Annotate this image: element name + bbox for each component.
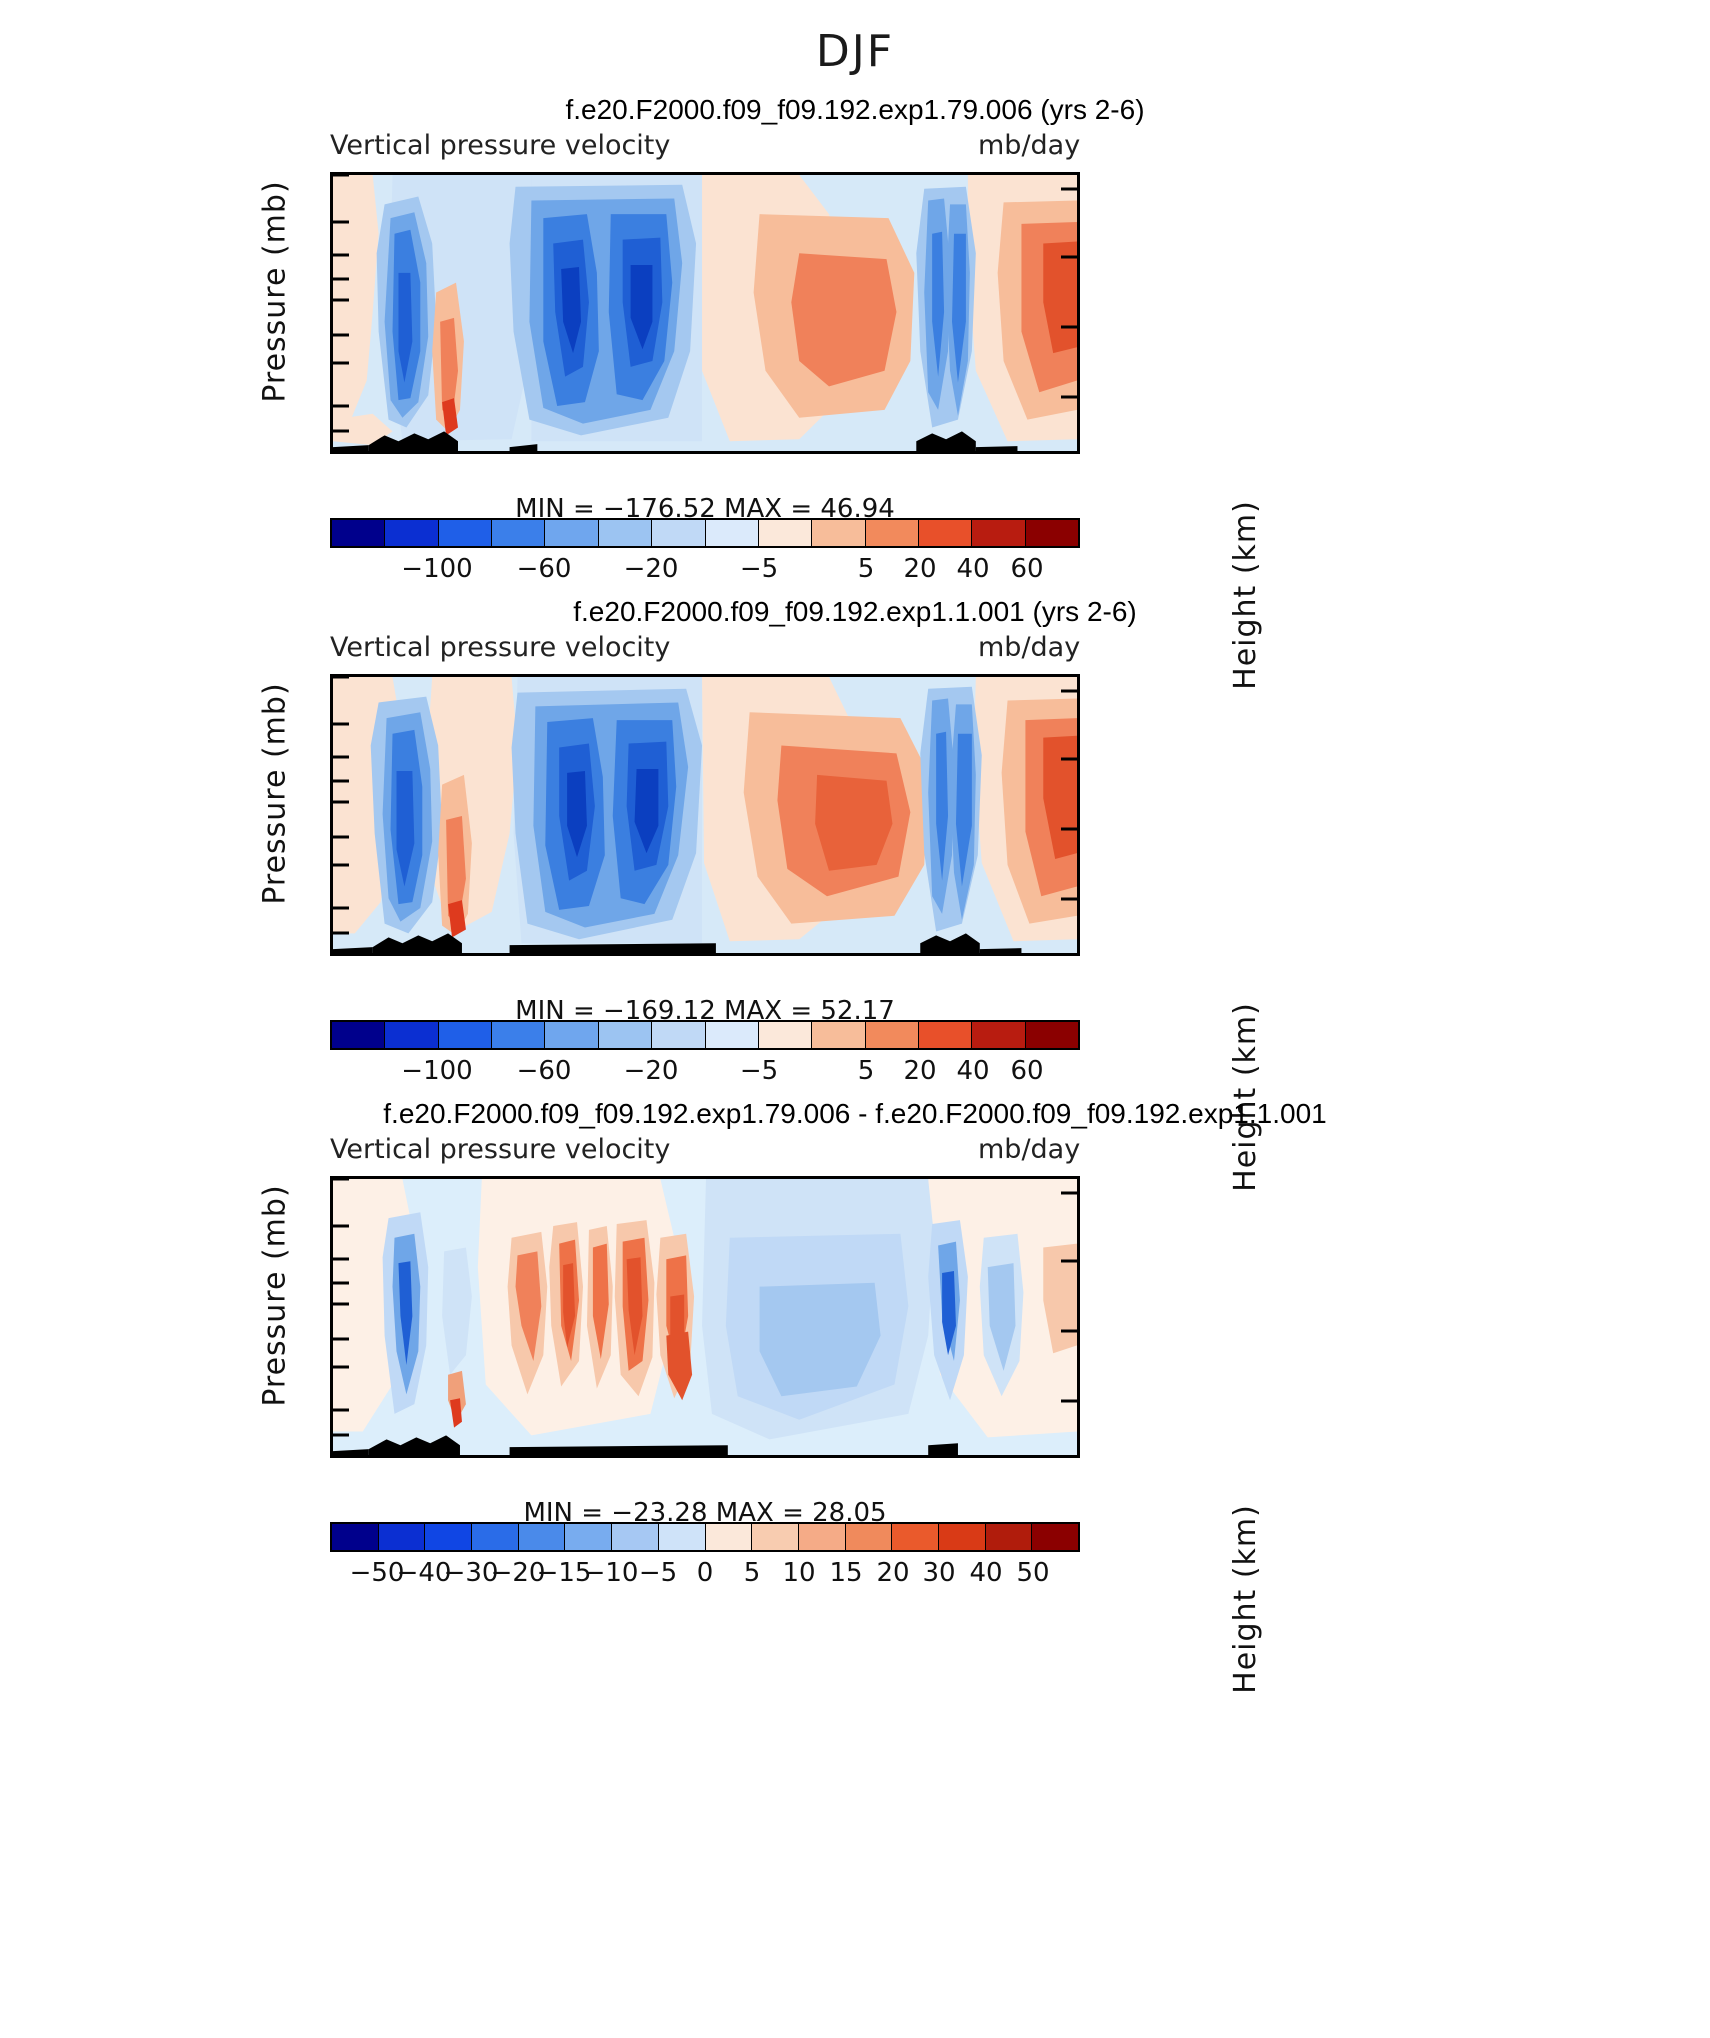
panel-3-cbar-tick-10: 15 — [829, 1558, 862, 1588]
panel-3-ytick-500: 500 — [330, 1352, 333, 1383]
panel-1-cbar-tick-0: −100 — [401, 554, 472, 584]
panel-2-y2tick-8: 8 — [1077, 814, 1080, 845]
panel-3-ytick-150: 150 — [330, 1211, 333, 1242]
panel-3-ytick-1000: 1000 — [330, 1444, 333, 1459]
panel-2-cbar-tick-7: 60 — [1010, 1056, 1043, 1086]
panel-3: f.e20.F2000.f09_f09.192.exp1.79.006 - f.… — [0, 1094, 1710, 1498]
panel-2-colorbar-wrap: −100 −60 −20 −5 5 20 40 60 — [330, 1020, 1080, 1092]
panel-2-cbar-tick-2: −20 — [624, 1056, 679, 1086]
panel-1-cbar-tick-1: −60 — [517, 554, 572, 584]
panel-2-y2-holder: Height (km) — [1258, 956, 1540, 986]
panel-3-ytick-300: 300 — [330, 1289, 333, 1320]
panel-1-cbar-tick-5: 20 — [903, 554, 936, 584]
panel-3-y2tick-8: 8 — [1077, 1316, 1080, 1347]
panel-1-ytick-150: 150 — [330, 207, 333, 238]
panel-2-colorbar — [330, 1020, 1080, 1050]
panel-3-cbar-tick-11: 20 — [876, 1558, 909, 1588]
panel-1-frame: 100 150 200 250 300 400 500 700 850 1000… — [330, 172, 1080, 454]
panel-3-colorbar-wrap: −50 −40 −30 −20 −15 −10 −5 0 5 10 15 20 … — [330, 1522, 1080, 1594]
panel-1-cbar-tick-3: −5 — [740, 554, 778, 584]
panel-2-y2tick-16: 16 — [1077, 676, 1080, 707]
panel-1-plot-area: Pressure (mb) Height (km) — [0, 164, 1710, 494]
panel-3-cbar-tick-12: 30 — [922, 1558, 955, 1588]
panel-2-colorbar-labels: −100 −60 −20 −5 5 20 40 60 — [330, 1056, 1080, 1092]
panel-1-cbar-tick-2: −20 — [624, 554, 679, 584]
panel-2-title: f.e20.F2000.f09_f09.192.exp1.1.001 (yrs … — [0, 592, 1710, 632]
panel-1-colorbar — [330, 518, 1080, 548]
panel-2-y2tick-4: 4 — [1077, 884, 1080, 915]
panel-2-ytick-500: 500 — [330, 850, 333, 881]
panel-3-y2tick-4: 4 — [1077, 1386, 1080, 1417]
panel-3-y2-holder: Height (km) — [1258, 1458, 1540, 1488]
panel-2-cbar-tick-6: 40 — [956, 1056, 989, 1086]
season-title: DJF — [0, 26, 1710, 77]
panel-3-y2tick-16: 16 — [1077, 1178, 1080, 1209]
panel-2: f.e20.F2000.f09_f09.192.exp1.1.001 (yrs … — [0, 592, 1710, 996]
panel-2-y-axis-label: Pressure (mb) — [258, 629, 293, 959]
panel-1-y2tick-16: 16 — [1077, 174, 1080, 205]
panel-1-colorbar-wrap: −100 −60 −20 −5 5 20 40 60 — [330, 518, 1080, 590]
panel-3-plot-area: Pressure (mb) Height (km) — [0, 1168, 1710, 1498]
panel-1-y2tick-12: 12 — [1077, 242, 1080, 273]
panel-2-variable-label: Vertical pressure velocity — [330, 632, 670, 663]
panel-1-cbar-tick-7: 60 — [1010, 554, 1043, 584]
panel-2-cbar-tick-3: −5 — [740, 1056, 778, 1086]
panel-1-units-label: mb/day — [978, 130, 1080, 161]
panel-1-y2-holder: Height (km) — [1258, 454, 1540, 484]
panel-1-cbar-tick-6: 40 — [956, 554, 989, 584]
panel-3-cbar-tick-13: 40 — [969, 1558, 1002, 1588]
panel-3-y-axis-label: Pressure (mb) — [258, 1131, 293, 1461]
panel-3-contour-field — [333, 1179, 1077, 1455]
panel-3-subtitle-row: Vertical pressure velocity mb/day — [0, 1134, 1710, 1168]
panel-1-ytick-1000: 1000 — [330, 440, 333, 455]
panel-3-cbar-tick-5: −10 — [584, 1558, 639, 1588]
panel-1-y-axis-label: Pressure (mb) — [258, 127, 293, 457]
panel-3-cbar-tick-6: −5 — [639, 1558, 677, 1588]
panel-2-ytick-150: 150 — [330, 709, 333, 740]
panel-2-y2tick-12: 12 — [1077, 744, 1080, 775]
panel-3-colorbar-labels: −50 −40 −30 −20 −15 −10 −5 0 5 10 15 20 … — [330, 1558, 1080, 1594]
panel-2-ytick-400: 400 — [330, 822, 333, 853]
panel-2-ytick-1000: 1000 — [330, 942, 333, 957]
panel-3-y2-axis-label: Height (km) — [1228, 1458, 1258, 1740]
panel-1-ytick-300: 300 — [330, 285, 333, 316]
panel-2-cbar-tick-0: −100 — [401, 1056, 472, 1086]
panel-2-cbar-tick-5: 20 — [903, 1056, 936, 1086]
panel-2-ytick-300: 300 — [330, 787, 333, 818]
panel-2-plot-area: Pressure (mb) Height (km) — [0, 666, 1710, 996]
panel-3-title: f.e20.F2000.f09_f09.192.exp1.79.006 - f.… — [0, 1094, 1710, 1134]
panel-3-cbar-tick-9: 10 — [782, 1558, 815, 1588]
panel-2-contour-field — [333, 677, 1077, 953]
panel-3-y2tick-12: 12 — [1077, 1246, 1080, 1277]
panel-2-subtitle-row: Vertical pressure velocity mb/day — [0, 632, 1710, 666]
panel-3-ytick-400: 400 — [330, 1324, 333, 1355]
panel-1-y2tick-8: 8 — [1077, 312, 1080, 343]
panel-2-cbar-tick-1: −60 — [517, 1056, 572, 1086]
panel-3-cbar-tick-7: 0 — [697, 1558, 714, 1588]
panel-2-units-label: mb/day — [978, 632, 1080, 663]
panel-3-variable-label: Vertical pressure velocity — [330, 1134, 670, 1165]
panel-1-cbar-tick-4: 5 — [858, 554, 875, 584]
panel-3-colorbar — [330, 1522, 1080, 1552]
panel-3-frame: 100 150 200 250 300 400 500 700 850 1000… — [330, 1176, 1080, 1458]
panel-1-ytick-500: 500 — [330, 348, 333, 379]
panel-3-cbar-tick-14: 50 — [1016, 1558, 1049, 1588]
panel-1-variable-label: Vertical pressure velocity — [330, 130, 670, 161]
panel-1-ytick-400: 400 — [330, 320, 333, 351]
panel-1-contour-field — [333, 175, 1077, 451]
panel-1: f.e20.F2000.f09_f09.192.exp1.79.006 (yrs… — [0, 90, 1710, 494]
panel-1-subtitle-row: Vertical pressure velocity mb/day — [0, 130, 1710, 164]
panel-3-units-label: mb/day — [978, 1134, 1080, 1165]
panel-2-frame: 100 150 200 250 300 400 500 700 850 1000… — [330, 674, 1080, 956]
panel-2-cbar-tick-4: 5 — [858, 1056, 875, 1086]
panel-1-title: f.e20.F2000.f09_f09.192.exp1.79.006 (yrs… — [0, 90, 1710, 130]
panel-3-cbar-tick-8: 5 — [744, 1558, 761, 1588]
panel-1-y2tick-4: 4 — [1077, 382, 1080, 413]
panel-1-colorbar-labels: −100 −60 −20 −5 5 20 40 60 — [330, 554, 1080, 590]
